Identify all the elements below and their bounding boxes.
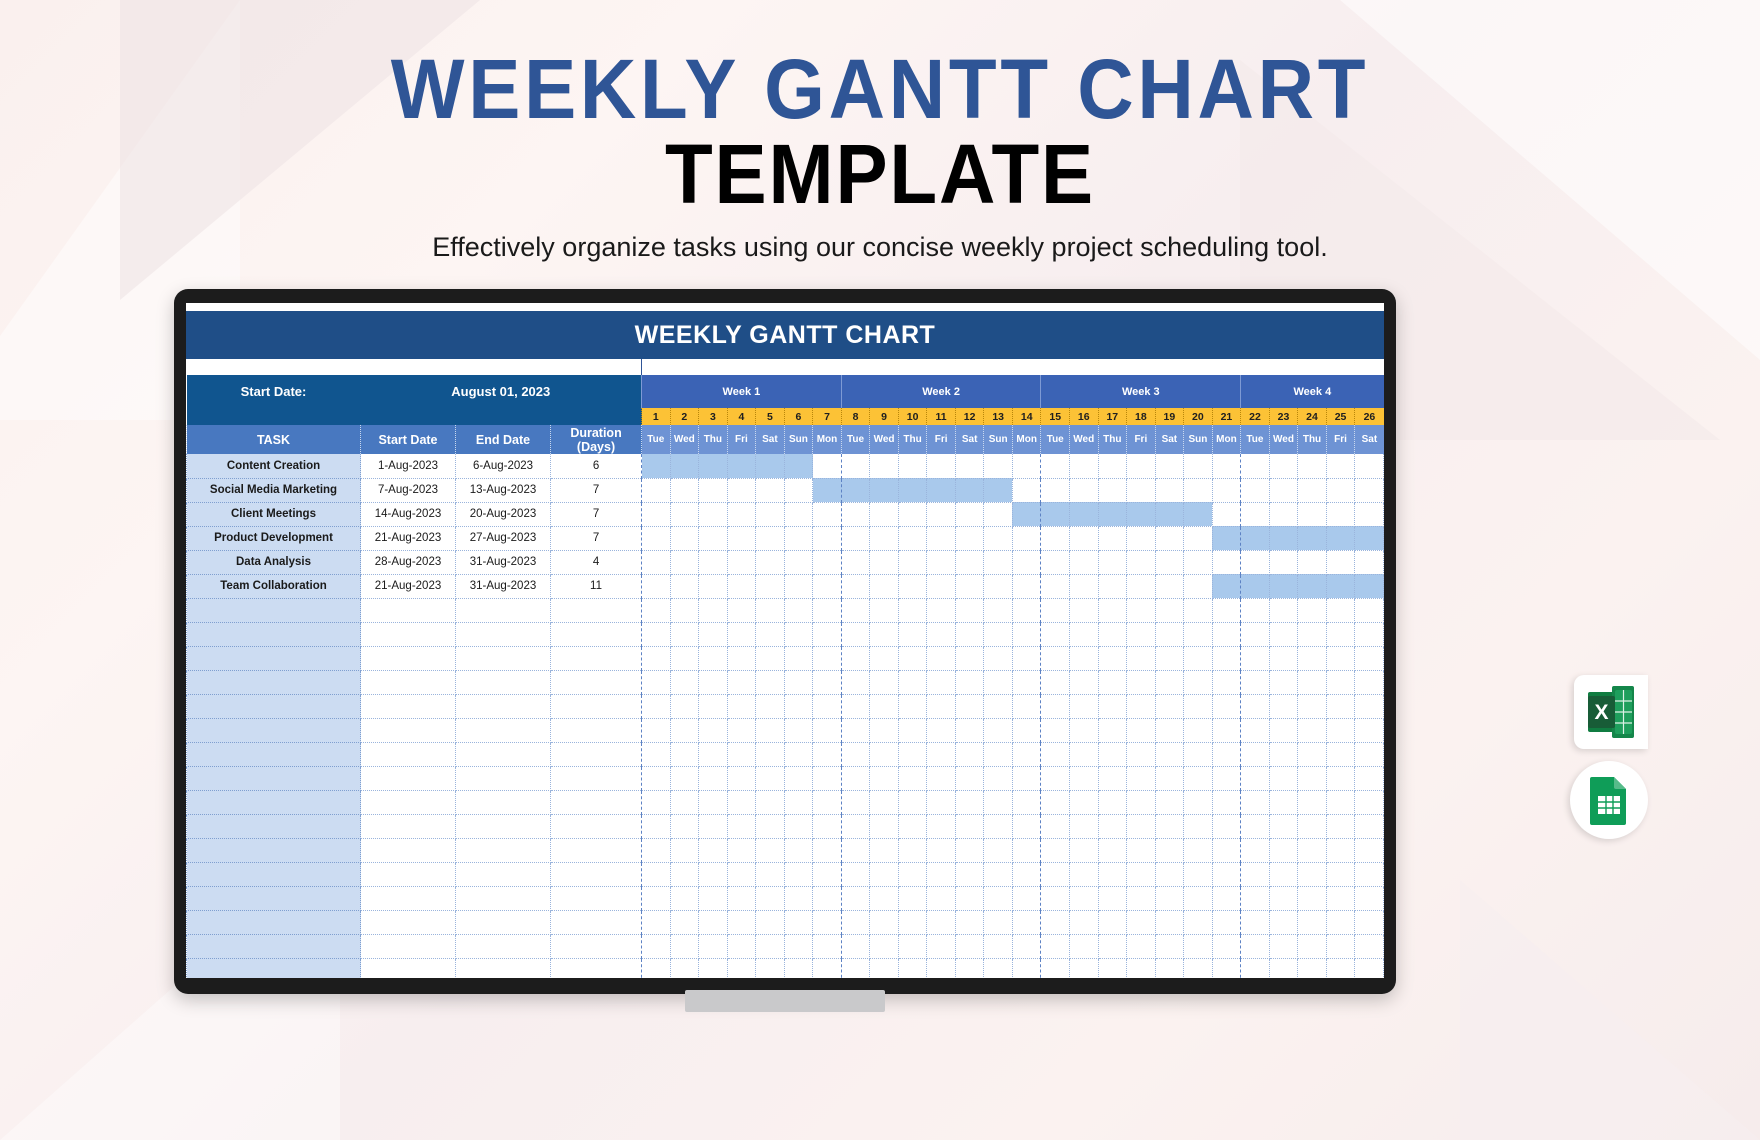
gantt-cell-empty-day-20[interactable] <box>1184 742 1213 766</box>
gantt-cell-day-6[interactable] <box>784 574 813 598</box>
gantt-cell-empty-day-24[interactable] <box>1298 814 1327 838</box>
gantt-cell-empty-day-10[interactable] <box>898 934 927 958</box>
gantt-cell-empty-day-12[interactable] <box>955 622 984 646</box>
gantt-cell-day-6[interactable] <box>784 502 813 526</box>
gantt-cell-empty-day-20[interactable] <box>1184 814 1213 838</box>
gantt-cell-empty-day-4[interactable] <box>727 694 756 718</box>
gantt-cell-day-12[interactable] <box>955 574 984 598</box>
gantt-cell-empty-day-19[interactable] <box>1155 958 1184 978</box>
gantt-cell-empty-day-14[interactable] <box>1012 886 1041 910</box>
gantt-cell-empty-day-7[interactable] <box>813 958 842 978</box>
gantt-cell-empty-day-3[interactable] <box>699 646 728 670</box>
gantt-cell-empty-day-16[interactable] <box>1070 814 1099 838</box>
gantt-cell-empty-day-8[interactable] <box>841 910 870 934</box>
gantt-cell-empty-day-10[interactable] <box>898 598 927 622</box>
gantt-cell-empty-day-3[interactable] <box>699 670 728 694</box>
gantt-cell-day-17[interactable] <box>1098 574 1127 598</box>
cell-empty[interactable] <box>551 694 642 718</box>
gantt-cell-empty-day-22[interactable] <box>1241 766 1270 790</box>
cell-empty[interactable] <box>551 622 642 646</box>
gantt-cell-empty-day-8[interactable] <box>841 862 870 886</box>
cell-empty[interactable] <box>551 838 642 862</box>
gantt-cell-empty-day-15[interactable] <box>1041 814 1070 838</box>
gantt-cell-day-1[interactable] <box>642 526 671 550</box>
gantt-cell-day-17[interactable] <box>1098 526 1127 550</box>
gantt-cell-day-7[interactable] <box>813 502 842 526</box>
gantt-cell-empty-day-10[interactable] <box>898 766 927 790</box>
gantt-cell-empty-day-10[interactable] <box>898 742 927 766</box>
gantt-cell-empty-day-25[interactable] <box>1326 742 1355 766</box>
gantt-cell-empty-day-7[interactable] <box>813 598 842 622</box>
cell-start-date[interactable]: 21-Aug-2023 <box>361 526 456 550</box>
gantt-cell-empty-day-1[interactable] <box>642 622 671 646</box>
gantt-cell-empty-day-21[interactable] <box>1212 934 1241 958</box>
gantt-cell-empty-day-22[interactable] <box>1241 742 1270 766</box>
gantt-cell-empty-day-22[interactable] <box>1241 886 1270 910</box>
cell-empty[interactable] <box>551 742 642 766</box>
cell-empty[interactable] <box>361 718 456 742</box>
gantt-cell-day-18[interactable] <box>1127 478 1156 502</box>
gantt-cell-empty-day-2[interactable] <box>670 718 699 742</box>
gantt-cell-empty-day-25[interactable] <box>1326 910 1355 934</box>
cell-empty[interactable] <box>551 886 642 910</box>
gantt-cell-empty-day-2[interactable] <box>670 742 699 766</box>
cell-task-name[interactable]: Product Development <box>187 526 361 550</box>
gantt-cell-day-4[interactable] <box>727 574 756 598</box>
gantt-cell-empty-day-26[interactable] <box>1355 694 1384 718</box>
gantt-cell-empty-day-4[interactable] <box>727 862 756 886</box>
gantt-cell-empty-day-18[interactable] <box>1127 934 1156 958</box>
gantt-cell-empty-day-24[interactable] <box>1298 886 1327 910</box>
gantt-cell-empty-day-9[interactable] <box>870 622 899 646</box>
gantt-cell-empty-day-21[interactable] <box>1212 694 1241 718</box>
gantt-cell-empty-day-24[interactable] <box>1298 718 1327 742</box>
gantt-cell-empty-day-18[interactable] <box>1127 598 1156 622</box>
gantt-cell-empty-day-17[interactable] <box>1098 646 1127 670</box>
gantt-cell-empty-day-2[interactable] <box>670 886 699 910</box>
gantt-cell-empty-day-26[interactable] <box>1355 910 1384 934</box>
gantt-cell-empty-day-9[interactable] <box>870 694 899 718</box>
table-row[interactable]: Content Creation1-Aug-20236-Aug-20236 <box>187 454 1384 478</box>
cell-empty[interactable] <box>456 718 551 742</box>
gantt-cell-empty-day-14[interactable] <box>1012 718 1041 742</box>
table-body[interactable]: Content Creation1-Aug-20236-Aug-20236Soc… <box>187 454 1384 978</box>
gantt-cell-empty-day-23[interactable] <box>1269 694 1298 718</box>
gantt-cell-day-9[interactable] <box>870 478 899 502</box>
gantt-cell-empty-day-12[interactable] <box>955 790 984 814</box>
gantt-cell-empty-day-9[interactable] <box>870 862 899 886</box>
gantt-cell-empty-day-22[interactable] <box>1241 958 1270 978</box>
gantt-cell-empty-day-20[interactable] <box>1184 886 1213 910</box>
gantt-cell-day-19[interactable] <box>1155 574 1184 598</box>
gantt-cell-day-11[interactable] <box>927 574 956 598</box>
gantt-cell-empty-day-21[interactable] <box>1212 790 1241 814</box>
gantt-cell-empty-day-11[interactable] <box>927 934 956 958</box>
gantt-cell-empty-day-12[interactable] <box>955 718 984 742</box>
gantt-cell-empty-day-22[interactable] <box>1241 646 1270 670</box>
gantt-cell-day-1[interactable] <box>642 502 671 526</box>
gantt-cell-empty-day-2[interactable] <box>670 670 699 694</box>
cell-empty[interactable] <box>456 838 551 862</box>
gantt-cell-empty-day-6[interactable] <box>784 838 813 862</box>
gantt-cell-day-20[interactable] <box>1184 478 1213 502</box>
col-header-task[interactable]: TASK <box>187 425 361 454</box>
gantt-cell-empty-day-11[interactable] <box>927 838 956 862</box>
cell-empty[interactable] <box>551 718 642 742</box>
gantt-cell-empty-day-23[interactable] <box>1269 958 1298 978</box>
gantt-cell-empty-day-12[interactable] <box>955 838 984 862</box>
gantt-cell-empty-day-4[interactable] <box>727 910 756 934</box>
gantt-cell-empty-day-1[interactable] <box>642 670 671 694</box>
gantt-cell-empty-day-12[interactable] <box>955 694 984 718</box>
gantt-cell-empty-day-10[interactable] <box>898 670 927 694</box>
gantt-cell-empty-day-9[interactable] <box>870 742 899 766</box>
cell-empty[interactable] <box>361 910 456 934</box>
gantt-cell-empty-day-20[interactable] <box>1184 646 1213 670</box>
gantt-cell-day-26[interactable] <box>1355 502 1384 526</box>
gantt-cell-empty-day-8[interactable] <box>841 670 870 694</box>
gantt-cell-day-18[interactable] <box>1127 454 1156 478</box>
cell-end-date[interactable]: 6-Aug-2023 <box>456 454 551 478</box>
gantt-cell-empty-day-1[interactable] <box>642 766 671 790</box>
gantt-cell-day-9[interactable] <box>870 526 899 550</box>
gantt-cell-day-7[interactable] <box>813 478 842 502</box>
gantt-cell-empty-day-13[interactable] <box>984 766 1013 790</box>
gantt-cell-empty-day-7[interactable] <box>813 718 842 742</box>
gantt-cell-empty-day-7[interactable] <box>813 790 842 814</box>
gantt-cell-empty-day-12[interactable] <box>955 670 984 694</box>
cell-empty[interactable] <box>361 646 456 670</box>
cell-end-date[interactable]: 13-Aug-2023 <box>456 478 551 502</box>
gantt-cell-day-5[interactable] <box>756 550 785 574</box>
gantt-cell-empty-day-18[interactable] <box>1127 790 1156 814</box>
gantt-cell-empty-day-22[interactable] <box>1241 934 1270 958</box>
gantt-cell-empty-day-5[interactable] <box>756 790 785 814</box>
gantt-cell-empty-day-21[interactable] <box>1212 766 1241 790</box>
gantt-cell-day-6[interactable] <box>784 550 813 574</box>
gantt-cell-empty-day-2[interactable] <box>670 934 699 958</box>
cell-empty[interactable] <box>361 598 456 622</box>
gantt-cell-empty-day-16[interactable] <box>1070 694 1099 718</box>
gantt-cell-empty-day-13[interactable] <box>984 622 1013 646</box>
gantt-cell-empty-day-20[interactable] <box>1184 670 1213 694</box>
gantt-cell-empty-day-13[interactable] <box>984 814 1013 838</box>
gantt-cell-empty-day-26[interactable] <box>1355 646 1384 670</box>
gantt-cell-day-25[interactable] <box>1326 478 1355 502</box>
gantt-cell-day-13[interactable] <box>984 478 1013 502</box>
table-row-empty[interactable] <box>187 886 1384 910</box>
gantt-cell-empty-day-21[interactable] <box>1212 670 1241 694</box>
gantt-cell-day-21[interactable] <box>1212 550 1241 574</box>
gantt-cell-day-7[interactable] <box>813 574 842 598</box>
gantt-cell-empty-day-23[interactable] <box>1269 934 1298 958</box>
gantt-cell-empty-day-12[interactable] <box>955 814 984 838</box>
gantt-cell-empty-day-13[interactable] <box>984 670 1013 694</box>
gantt-cell-empty-day-15[interactable] <box>1041 958 1070 978</box>
gantt-cell-empty-day-3[interactable] <box>699 838 728 862</box>
gantt-cell-empty-day-16[interactable] <box>1070 886 1099 910</box>
gantt-cell-empty-day-18[interactable] <box>1127 814 1156 838</box>
cell-empty[interactable] <box>361 862 456 886</box>
gantt-cell-day-21[interactable] <box>1212 526 1241 550</box>
gantt-cell-day-4[interactable] <box>727 454 756 478</box>
gantt-cell-day-20[interactable] <box>1184 454 1213 478</box>
gantt-cell-empty-day-25[interactable] <box>1326 670 1355 694</box>
gantt-cell-empty-day-22[interactable] <box>1241 838 1270 862</box>
gantt-cell-empty-day-9[interactable] <box>870 766 899 790</box>
gantt-cell-empty-day-25[interactable] <box>1326 814 1355 838</box>
gantt-cell-empty-day-14[interactable] <box>1012 910 1041 934</box>
gantt-cell-day-13[interactable] <box>984 502 1013 526</box>
gantt-cell-day-24[interactable] <box>1298 478 1327 502</box>
gantt-cell-empty-day-16[interactable] <box>1070 646 1099 670</box>
col-header-start-date[interactable]: Start Date <box>361 425 456 454</box>
gantt-cell-empty-day-20[interactable] <box>1184 790 1213 814</box>
table-row-empty[interactable] <box>187 862 1384 886</box>
gantt-cell-empty-day-3[interactable] <box>699 718 728 742</box>
gantt-cell-empty-day-20[interactable] <box>1184 910 1213 934</box>
cell-task-name-empty[interactable] <box>187 766 361 790</box>
gantt-cell-empty-day-8[interactable] <box>841 958 870 978</box>
gantt-cell-empty-day-18[interactable] <box>1127 622 1156 646</box>
gantt-cell-day-12[interactable] <box>955 502 984 526</box>
cell-empty[interactable] <box>361 886 456 910</box>
gantt-cell-empty-day-24[interactable] <box>1298 622 1327 646</box>
gantt-cell-day-1[interactable] <box>642 478 671 502</box>
cell-empty[interactable] <box>551 862 642 886</box>
gantt-cell-empty-day-9[interactable] <box>870 718 899 742</box>
gantt-cell-empty-day-11[interactable] <box>927 790 956 814</box>
gantt-cell-empty-day-17[interactable] <box>1098 742 1127 766</box>
cell-task-name-empty[interactable] <box>187 814 361 838</box>
gantt-cell-empty-day-11[interactable] <box>927 766 956 790</box>
cell-task-name[interactable]: Data Analysis <box>187 550 361 574</box>
gantt-cell-empty-day-26[interactable] <box>1355 790 1384 814</box>
google-sheets-chip[interactable] <box>1570 761 1648 839</box>
gantt-cell-empty-day-8[interactable] <box>841 934 870 958</box>
gantt-cell-empty-day-4[interactable] <box>727 886 756 910</box>
gantt-cell-day-23[interactable] <box>1269 502 1298 526</box>
col-header-duration[interactable]: Duration (Days) <box>551 425 642 454</box>
gantt-cell-day-26[interactable] <box>1355 574 1384 598</box>
gantt-cell-empty-day-1[interactable] <box>642 958 671 978</box>
table-row-empty[interactable] <box>187 742 1384 766</box>
gantt-cell-empty-day-26[interactable] <box>1355 814 1384 838</box>
gantt-cell-day-2[interactable] <box>670 526 699 550</box>
gantt-cell-day-9[interactable] <box>870 502 899 526</box>
gantt-cell-empty-day-24[interactable] <box>1298 958 1327 978</box>
gantt-cell-day-24[interactable] <box>1298 526 1327 550</box>
table-row-empty[interactable] <box>187 694 1384 718</box>
cell-empty[interactable] <box>456 766 551 790</box>
excel-icon[interactable]: X <box>1588 686 1634 738</box>
gantt-cell-empty-day-4[interactable] <box>727 790 756 814</box>
gantt-cell-empty-day-24[interactable] <box>1298 670 1327 694</box>
gantt-cell-empty-day-25[interactable] <box>1326 790 1355 814</box>
gantt-cell-empty-day-5[interactable] <box>756 694 785 718</box>
table-row-empty[interactable] <box>187 766 1384 790</box>
gantt-cell-empty-day-11[interactable] <box>927 670 956 694</box>
cell-empty[interactable] <box>361 766 456 790</box>
gantt-cell-empty-day-11[interactable] <box>927 718 956 742</box>
gantt-cell-empty-day-7[interactable] <box>813 766 842 790</box>
gantt-cell-empty-day-21[interactable] <box>1212 910 1241 934</box>
gantt-cell-empty-day-2[interactable] <box>670 694 699 718</box>
gantt-cell-day-19[interactable] <box>1155 478 1184 502</box>
gantt-cell-empty-day-14[interactable] <box>1012 694 1041 718</box>
cell-end-date[interactable]: 31-Aug-2023 <box>456 574 551 598</box>
cell-empty[interactable] <box>456 934 551 958</box>
gantt-cell-empty-day-10[interactable] <box>898 910 927 934</box>
gantt-cell-empty-day-21[interactable] <box>1212 958 1241 978</box>
gantt-cell-empty-day-23[interactable] <box>1269 598 1298 622</box>
gantt-cell-day-23[interactable] <box>1269 574 1298 598</box>
gantt-cell-day-18[interactable] <box>1127 550 1156 574</box>
cell-empty[interactable] <box>361 814 456 838</box>
gantt-cell-empty-day-22[interactable] <box>1241 670 1270 694</box>
gantt-cell-empty-day-4[interactable] <box>727 934 756 958</box>
gantt-cell-empty-day-17[interactable] <box>1098 958 1127 978</box>
gantt-cell-empty-day-8[interactable] <box>841 646 870 670</box>
gantt-cell-day-22[interactable] <box>1241 502 1270 526</box>
gantt-cell-empty-day-19[interactable] <box>1155 694 1184 718</box>
gantt-cell-day-18[interactable] <box>1127 502 1156 526</box>
gantt-cell-day-24[interactable] <box>1298 574 1327 598</box>
gantt-cell-empty-day-6[interactable] <box>784 718 813 742</box>
gantt-cell-day-6[interactable] <box>784 526 813 550</box>
gantt-cell-empty-day-21[interactable] <box>1212 598 1241 622</box>
gantt-cell-day-14[interactable] <box>1012 454 1041 478</box>
gantt-cell-empty-day-23[interactable] <box>1269 742 1298 766</box>
gantt-cell-day-21[interactable] <box>1212 502 1241 526</box>
gantt-cell-empty-day-19[interactable] <box>1155 862 1184 886</box>
gantt-cell-empty-day-1[interactable] <box>642 694 671 718</box>
gantt-cell-empty-day-21[interactable] <box>1212 622 1241 646</box>
gantt-cell-day-12[interactable] <box>955 526 984 550</box>
gantt-cell-empty-day-18[interactable] <box>1127 766 1156 790</box>
table-row[interactable]: Product Development21-Aug-202327-Aug-202… <box>187 526 1384 550</box>
gantt-cell-empty-day-2[interactable] <box>670 910 699 934</box>
gantt-cell-day-8[interactable] <box>841 478 870 502</box>
gantt-cell-empty-day-11[interactable] <box>927 694 956 718</box>
gantt-cell-day-2[interactable] <box>670 502 699 526</box>
gantt-cell-empty-day-14[interactable] <box>1012 814 1041 838</box>
gantt-cell-day-20[interactable] <box>1184 574 1213 598</box>
cell-empty[interactable] <box>551 670 642 694</box>
gantt-cell-empty-day-5[interactable] <box>756 646 785 670</box>
gantt-cell-empty-day-23[interactable] <box>1269 718 1298 742</box>
gantt-cell-empty-day-14[interactable] <box>1012 670 1041 694</box>
gantt-cell-empty-day-19[interactable] <box>1155 838 1184 862</box>
gantt-cell-empty-day-3[interactable] <box>699 886 728 910</box>
cell-empty[interactable] <box>456 958 551 978</box>
gantt-cell-empty-day-4[interactable] <box>727 766 756 790</box>
gantt-cell-day-24[interactable] <box>1298 454 1327 478</box>
gantt-cell-empty-day-12[interactable] <box>955 646 984 670</box>
gantt-cell-empty-day-11[interactable] <box>927 622 956 646</box>
gantt-cell-empty-day-7[interactable] <box>813 622 842 646</box>
gantt-cell-empty-day-3[interactable] <box>699 910 728 934</box>
gantt-cell-day-13[interactable] <box>984 550 1013 574</box>
gantt-cell-empty-day-17[interactable] <box>1098 670 1127 694</box>
gantt-cell-empty-day-2[interactable] <box>670 838 699 862</box>
gantt-cell-day-11[interactable] <box>927 478 956 502</box>
gantt-cell-day-7[interactable] <box>813 454 842 478</box>
gantt-cell-day-22[interactable] <box>1241 574 1270 598</box>
cell-start-date[interactable]: 1-Aug-2023 <box>361 454 456 478</box>
gantt-cell-day-25[interactable] <box>1326 574 1355 598</box>
gantt-cell-empty-day-14[interactable] <box>1012 646 1041 670</box>
gantt-cell-empty-day-26[interactable] <box>1355 718 1384 742</box>
gantt-cell-empty-day-16[interactable] <box>1070 742 1099 766</box>
gantt-cell-empty-day-26[interactable] <box>1355 862 1384 886</box>
gantt-cell-empty-day-13[interactable] <box>984 718 1013 742</box>
gantt-cell-empty-day-12[interactable] <box>955 934 984 958</box>
gantt-cell-empty-day-5[interactable] <box>756 622 785 646</box>
gantt-cell-empty-day-11[interactable] <box>927 646 956 670</box>
gantt-cell-day-22[interactable] <box>1241 526 1270 550</box>
cell-task-name-empty[interactable] <box>187 718 361 742</box>
gantt-cell-empty-day-24[interactable] <box>1298 790 1327 814</box>
gantt-cell-empty-day-4[interactable] <box>727 742 756 766</box>
gantt-cell-empty-day-6[interactable] <box>784 670 813 694</box>
gantt-cell-empty-day-6[interactable] <box>784 646 813 670</box>
gantt-cell-empty-day-19[interactable] <box>1155 790 1184 814</box>
gantt-cell-empty-day-3[interactable] <box>699 790 728 814</box>
gantt-cell-empty-day-13[interactable] <box>984 790 1013 814</box>
gantt-cell-day-19[interactable] <box>1155 526 1184 550</box>
gantt-cell-empty-day-19[interactable] <box>1155 598 1184 622</box>
table-row-empty[interactable] <box>187 622 1384 646</box>
gantt-cell-empty-day-25[interactable] <box>1326 958 1355 978</box>
gantt-cell-empty-day-26[interactable] <box>1355 742 1384 766</box>
gantt-cell-empty-day-17[interactable] <box>1098 598 1127 622</box>
gantt-cell-day-15[interactable] <box>1041 526 1070 550</box>
gantt-cell-empty-day-24[interactable] <box>1298 766 1327 790</box>
gantt-cell-empty-day-7[interactable] <box>813 934 842 958</box>
gantt-cell-day-1[interactable] <box>642 574 671 598</box>
gantt-cell-empty-day-15[interactable] <box>1041 862 1070 886</box>
gantt-cell-empty-day-5[interactable] <box>756 958 785 978</box>
gantt-cell-empty-day-4[interactable] <box>727 646 756 670</box>
gantt-cell-empty-day-16[interactable] <box>1070 934 1099 958</box>
gantt-cell-empty-day-10[interactable] <box>898 646 927 670</box>
gantt-cell-empty-day-25[interactable] <box>1326 766 1355 790</box>
gantt-cell-empty-day-24[interactable] <box>1298 934 1327 958</box>
gantt-cell-empty-day-15[interactable] <box>1041 886 1070 910</box>
gantt-cell-day-16[interactable] <box>1070 550 1099 574</box>
gantt-cell-day-26[interactable] <box>1355 526 1384 550</box>
gantt-cell-day-15[interactable] <box>1041 502 1070 526</box>
gantt-cell-empty-day-17[interactable] <box>1098 790 1127 814</box>
gantt-cell-day-18[interactable] <box>1127 574 1156 598</box>
cell-empty[interactable] <box>361 790 456 814</box>
gantt-cell-day-10[interactable] <box>898 550 927 574</box>
gantt-cell-empty-day-5[interactable] <box>756 814 785 838</box>
table-row[interactable]: Team Collaboration21-Aug-202331-Aug-2023… <box>187 574 1384 598</box>
gantt-cell-empty-day-19[interactable] <box>1155 766 1184 790</box>
gantt-cell-empty-day-12[interactable] <box>955 766 984 790</box>
gantt-cell-empty-day-5[interactable] <box>756 742 785 766</box>
gantt-cell-empty-day-7[interactable] <box>813 694 842 718</box>
gantt-cell-day-16[interactable] <box>1070 502 1099 526</box>
gantt-cell-day-15[interactable] <box>1041 574 1070 598</box>
gantt-cell-empty-day-18[interactable] <box>1127 838 1156 862</box>
cell-empty[interactable] <box>361 958 456 978</box>
gantt-cell-empty-day-26[interactable] <box>1355 598 1384 622</box>
gantt-cell-empty-day-6[interactable] <box>784 958 813 978</box>
gantt-cell-day-1[interactable] <box>642 550 671 574</box>
